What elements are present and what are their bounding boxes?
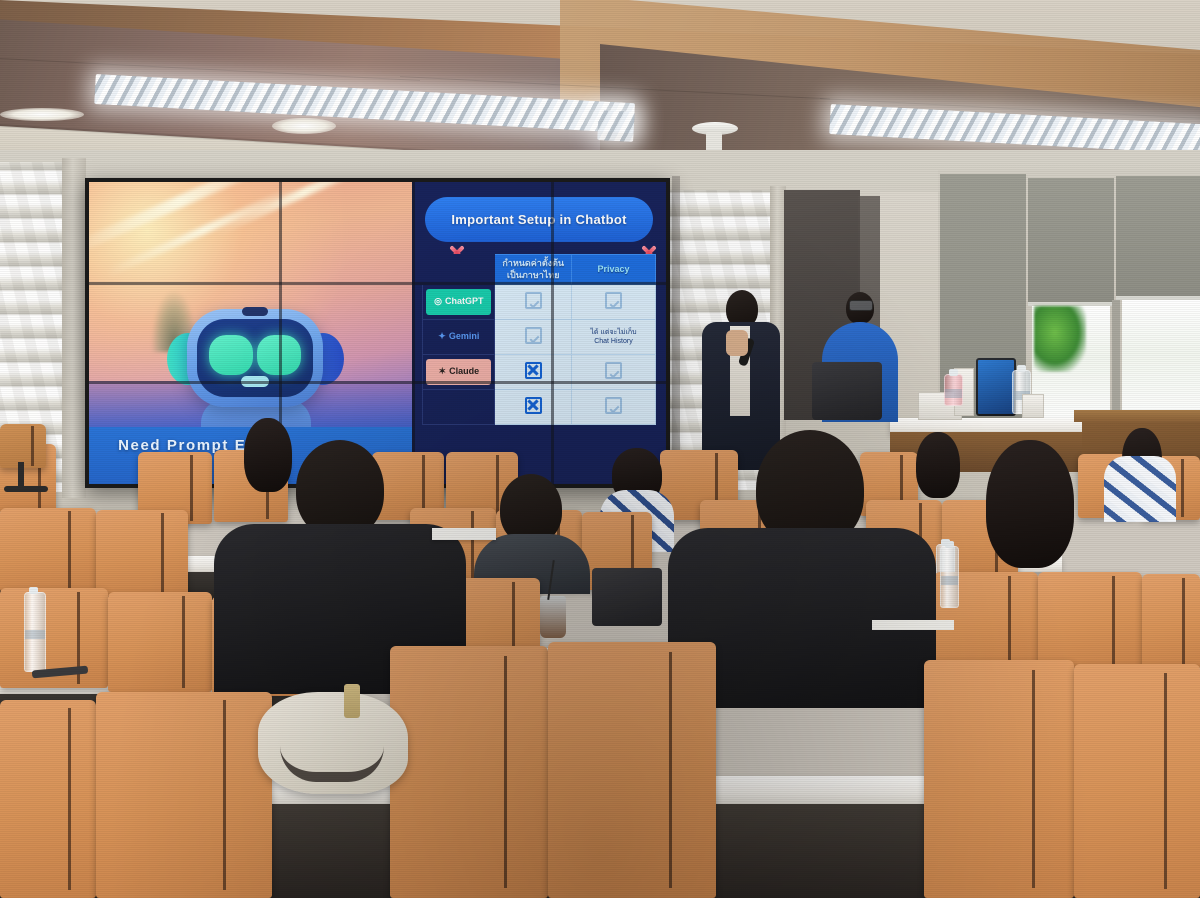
robot-face bbox=[197, 319, 313, 397]
x-mark-icon bbox=[525, 397, 542, 414]
seat[interactable] bbox=[0, 700, 96, 898]
cell-thai-gemini bbox=[495, 319, 572, 354]
claude-label: Claude bbox=[449, 366, 479, 378]
water-bottle bbox=[24, 592, 46, 672]
check-mark-icon bbox=[605, 397, 622, 414]
cell-tool-gemini: ✦ Gemini bbox=[423, 319, 495, 354]
col-header-thai-default: กำหนดค่าตั้งต้น เป็นภาษาไทย bbox=[495, 255, 572, 285]
cell-tool-chatgpt: ◎ ChatGPT bbox=[423, 284, 495, 319]
seat[interactable] bbox=[548, 642, 716, 898]
slide-table-panel: Important Setup in Chatbot กำหนดค่าตั้งต… bbox=[412, 182, 666, 484]
seat[interactable] bbox=[1142, 574, 1200, 670]
robot-eye-left bbox=[209, 335, 253, 375]
gemini-logo-icon: ✦ Gemini bbox=[426, 324, 491, 350]
chatgpt-logo-icon: ◎ ChatGPT bbox=[426, 289, 491, 315]
cell-privacy-chatgpt bbox=[572, 284, 656, 319]
assistant-glasses-icon bbox=[849, 300, 873, 311]
seat[interactable] bbox=[1038, 572, 1142, 668]
x-mark-icon bbox=[525, 362, 542, 379]
chatgpt-label: ChatGPT bbox=[445, 296, 484, 308]
col-header-privacy: Privacy bbox=[572, 255, 656, 285]
col-header-tool bbox=[423, 255, 495, 285]
table-header-row: กำหนดค่าตั้งต้น เป็นภาษาไทย Privacy bbox=[423, 255, 656, 285]
recessed-downlight-icon bbox=[272, 118, 336, 134]
window-blind[interactable] bbox=[1116, 176, 1200, 300]
outdoor-foliage bbox=[1034, 306, 1086, 372]
seat[interactable] bbox=[108, 592, 212, 692]
table-row: ✦ Gemini ได้ แต่จะไม่เก็บ Chat History bbox=[423, 319, 656, 354]
recessed-downlight-icon bbox=[0, 108, 84, 121]
claude-burst-icon: ✶ bbox=[439, 366, 447, 378]
cell-privacy-gemini: ได้ แต่จะไม่เก็บ Chat History bbox=[572, 319, 656, 354]
laptop[interactable] bbox=[812, 362, 882, 420]
presenter-hand bbox=[726, 330, 748, 356]
audience-member bbox=[916, 432, 960, 498]
cell-privacy-fourth bbox=[572, 389, 656, 424]
seat[interactable] bbox=[1074, 664, 1200, 898]
table-row bbox=[423, 389, 656, 424]
video-wall-bezel bbox=[551, 182, 554, 484]
cell-tool-fourth bbox=[423, 389, 495, 424]
gemini-spark-icon: ✦ bbox=[438, 331, 446, 343]
col-header-thai-line1: กำหนดค่าตั้งต้น bbox=[496, 258, 570, 269]
video-wall-bezel bbox=[89, 282, 666, 285]
equipment-box bbox=[1022, 394, 1044, 418]
iced-coffee-cup bbox=[540, 596, 566, 638]
audience-member bbox=[244, 418, 292, 492]
cell-thai-chatgpt bbox=[495, 284, 572, 319]
window-blind[interactable] bbox=[1028, 178, 1114, 306]
privacy-note-line2: Chat History bbox=[573, 337, 654, 346]
paper-sheet bbox=[872, 620, 954, 630]
cell-thai-fourth bbox=[495, 389, 572, 424]
seat[interactable] bbox=[96, 510, 188, 596]
video-wall-display[interactable]: Need Prompt E Important Setup in Chatbot bbox=[85, 178, 670, 488]
water-bottle bbox=[944, 374, 963, 406]
slide-content: Need Prompt E Important Setup in Chatbot bbox=[89, 182, 666, 484]
slide-header-title: Important Setup in Chatbot bbox=[451, 212, 626, 227]
office-chair-base bbox=[4, 486, 48, 492]
lectern-top bbox=[1074, 410, 1200, 422]
check-mark-icon bbox=[525, 327, 542, 344]
robot-mascot-icon bbox=[173, 303, 338, 423]
robot-antenna bbox=[242, 307, 268, 316]
check-mark-icon bbox=[605, 292, 622, 309]
linear-grille-light-icon bbox=[597, 110, 635, 142]
control-monitor[interactable] bbox=[976, 358, 1016, 416]
col-header-thai-line2: เป็นภาษาไทย bbox=[496, 270, 570, 281]
audience-patterned-shirt bbox=[1104, 456, 1176, 522]
privacy-note-line1: ได้ แต่จะไม่เก็บ bbox=[573, 328, 654, 337]
check-mark-icon bbox=[525, 292, 542, 309]
bag-strap-buckle bbox=[344, 684, 360, 718]
chatgpt-mark-icon: ◎ bbox=[434, 296, 442, 308]
control-monitor-screen bbox=[978, 360, 1014, 414]
seat[interactable] bbox=[96, 692, 272, 898]
video-wall-bezel bbox=[412, 182, 415, 484]
slide-header-pill: Important Setup in Chatbot bbox=[425, 197, 653, 242]
wall-shadow bbox=[672, 176, 680, 476]
table-row: ◎ ChatGPT bbox=[423, 284, 656, 319]
chatbot-comparison-table: กำหนดค่าตั้งต้น เป็นภาษาไทย Privacy ◎ C bbox=[422, 254, 656, 425]
seat[interactable] bbox=[390, 646, 548, 898]
office-chair-stem bbox=[18, 462, 24, 488]
video-wall-bezel bbox=[89, 381, 666, 384]
seat[interactable] bbox=[924, 660, 1074, 898]
light-streak bbox=[106, 184, 301, 277]
wall-pillar bbox=[62, 158, 86, 498]
notebook bbox=[432, 528, 496, 540]
conference-room-photo: Need Prompt E Important Setup in Chatbot bbox=[0, 0, 1200, 898]
gemini-label: Gemini bbox=[449, 331, 480, 343]
check-mark-icon bbox=[605, 362, 622, 379]
water-bottle bbox=[940, 546, 959, 608]
seat[interactable] bbox=[0, 508, 96, 592]
tablet-case[interactable] bbox=[592, 568, 662, 626]
robot-head bbox=[187, 309, 323, 407]
light-streak bbox=[89, 182, 291, 256]
audience-member bbox=[986, 440, 1074, 568]
